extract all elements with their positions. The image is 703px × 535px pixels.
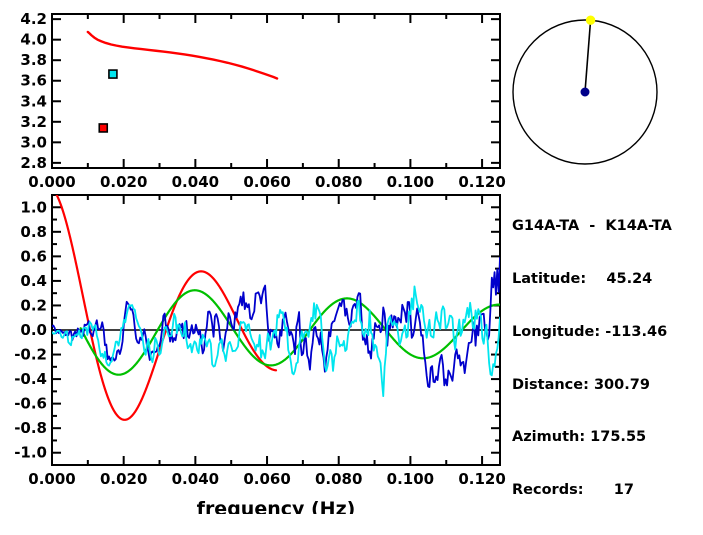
plot-frame [52,14,500,168]
y-tick-label: 3.8 [20,51,47,69]
y-tick-label: 4.2 [20,10,47,28]
azimuth-row: Azimuth: 175.55 [512,429,702,447]
marker-marker-cyan [109,70,117,78]
x-tick-label: 0.080 [315,173,362,191]
y-tick-label: 0.4 [20,272,47,290]
x-tick-label: 0.060 [243,173,290,191]
x-tick-label: 0.120 [458,173,505,191]
y-tick-label: 3.2 [20,113,47,131]
x-tick-label: 0.020 [100,470,147,488]
azimuth-ray [585,20,591,92]
longitude-row: Longitude: -113.46 [512,324,702,342]
y-tick-label: 2.8 [20,154,47,172]
y-tick-label: 3.6 [20,72,47,90]
x-tick-label: 0.000 [28,173,75,191]
y-tick-label: 0.2 [20,296,47,314]
x-tick-label: 0.040 [172,470,219,488]
station-info-panel: G14A-TA - K14A-TA Latitude: 45.24 Longit… [512,183,702,535]
y-tick-label: 0.8 [20,223,47,241]
y-tick-label: 4.0 [20,31,47,49]
y-tick-label: 3.4 [20,92,47,110]
y-tick-label: -0.4 [14,370,47,388]
y-tick-label: -0.8 [14,419,47,437]
spectra-plot: 0.0000.0200.0400.0600.0800.1000.120-1.0-… [0,190,520,514]
azimuth-diagram [505,0,703,183]
y-tick-label: 0.0 [20,321,47,339]
marker-marker-red [99,124,107,132]
y-tick-label: -0.6 [14,395,47,413]
records-row: Records: 17 [512,482,702,500]
x-tick-label: 0.100 [387,173,434,191]
x-tick-label: 0.080 [315,470,362,488]
x-tick-label: 0.020 [100,173,147,191]
distance-row: Distance: 300.79 [512,377,702,395]
x-tick-label: 0.120 [458,470,505,488]
x-tick-label: 0.100 [387,470,434,488]
figure-root: 0.0000.0200.0400.0600.0800.1000.1202.83.… [0,0,703,519]
x-tick-label: 0.060 [243,470,290,488]
x-tick-label: 0.040 [172,173,219,191]
dispersion-plot: 0.0000.0200.0400.0600.0800.1000.1202.83.… [0,0,520,195]
station-dot-center [581,88,589,96]
y-tick-label: -0.2 [14,346,47,364]
x-axis-title: frequency (Hz) [197,498,356,514]
station-pair-label: G14A-TA - K14A-TA [512,218,702,236]
y-tick-label: 1.0 [20,198,47,216]
y-tick-label: -1.0 [14,444,47,462]
station-dot-remote [586,16,594,24]
y-tick-label: 0.6 [20,247,47,265]
y-tick-label: 3.0 [20,133,47,151]
latitude-row: Latitude: 45.24 [512,271,702,289]
x-tick-label: 0.000 [28,470,75,488]
